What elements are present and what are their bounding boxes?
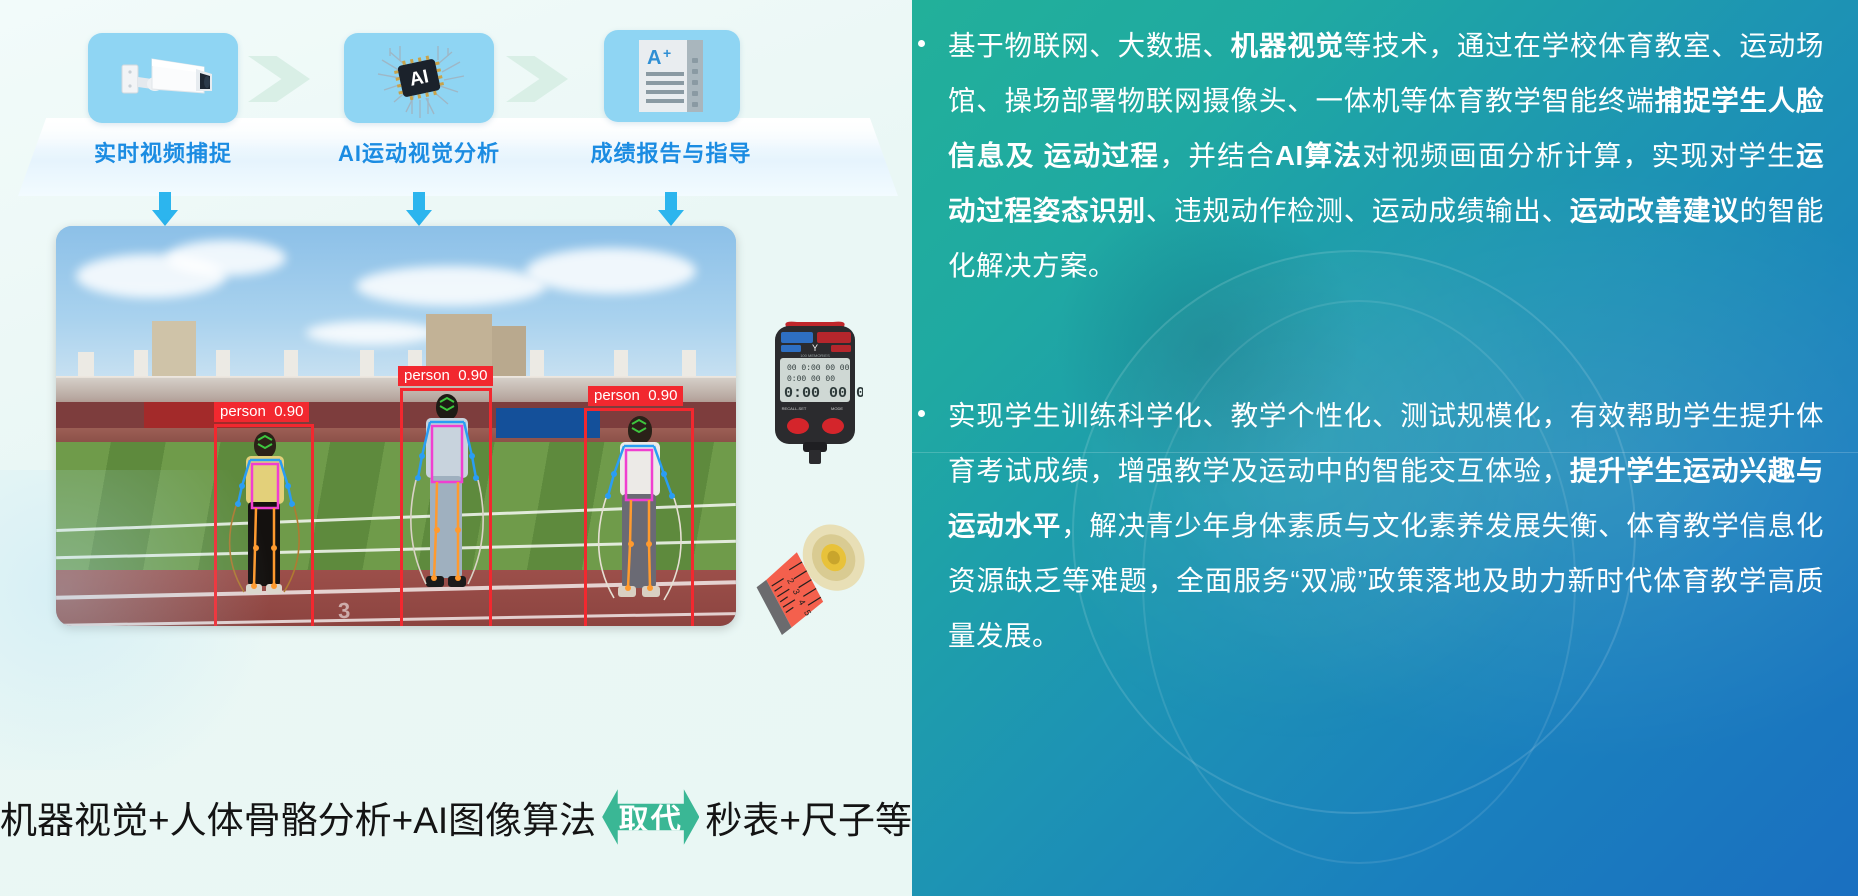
flow-connector-2 [506, 56, 568, 102]
bottom-caption: 机器视觉+人体骨骼分析+AI图像算法 取代 秒表+尺子等 [0, 782, 912, 852]
flow-step-2-tile[interactable]: AI [344, 33, 494, 123]
track-number: 3 [338, 598, 351, 624]
security-camera-icon [108, 43, 218, 113]
cloud [356, 266, 546, 306]
pose-skeleton-2 [400, 368, 492, 626]
person-shoe [266, 584, 282, 594]
flow-connector-1 [248, 56, 310, 102]
detected-person-1: person 0.90 [214, 404, 314, 626]
bullet-marker-2 [918, 410, 925, 417]
bullet-paragraph-2: 实现学生训练科学化、教学个性化、测试规模化，有效帮助学生提升体育考试成绩，增强教… [948, 388, 1824, 663]
replaces-arrow: 取代 [602, 784, 699, 850]
report-card-icon: A + [631, 36, 713, 116]
detected-person-3: person 0.90 [584, 388, 694, 626]
arrow-down-icon-2 [406, 192, 432, 226]
pose-skeleton-3 [584, 388, 694, 626]
cloud [306, 321, 436, 345]
process-flow: AI A + [0, 0, 912, 210]
detected-person-2: person 0.90 [400, 368, 492, 626]
bullet-1-segment-11: 、违规动作检测、运动成绩输出、 [1146, 195, 1570, 226]
person-shoe [246, 584, 262, 594]
ai-pose-detection-preview[interactable]: 3 person 0.90 [56, 226, 736, 626]
flow-step-2-label: AI运动视觉分析 [304, 136, 534, 168]
measuring-tape-image: 2 3 4 5 [748, 505, 888, 645]
flow-step-3-label: 成绩报告与指导 [556, 136, 786, 168]
bullet-1-segment-2: 机器视觉 [1231, 30, 1344, 61]
flow-step-1-tile[interactable] [88, 33, 238, 123]
svg-text:0:00 00 00: 0:00 00 00 [784, 385, 863, 402]
svg-text:MODE: MODE [831, 406, 843, 411]
arrow-down-icon-3 [658, 192, 684, 226]
caption-left-text: 机器视觉+人体骨骼分析+AI图像算法 [0, 790, 596, 844]
pose-skeleton-1 [214, 404, 314, 626]
bullet-paragraph-1: 基于物联网、大数据、机器视觉等技术，通过在学校体育教室、运动场馆、操场部署物联网… [948, 18, 1824, 293]
svg-text:A: A [647, 47, 661, 69]
cloud [166, 240, 286, 276]
svg-text:00 0:00 00 00: 00 0:00 00 00 [787, 364, 850, 373]
bullet-1-segment-1: 基于物联网、大数据、 [948, 30, 1231, 61]
bullet-marker-1 [918, 40, 925, 47]
ai-chip-icon: AI [360, 34, 478, 122]
caption-right-text: 秒表+尺子等 [705, 790, 912, 844]
person-legs [248, 502, 280, 586]
svg-text:0:00 00 00: 0:00 00 00 [787, 375, 835, 384]
flow-step-1-label: 实时视频捕捉 [48, 136, 278, 168]
cloud [526, 248, 696, 294]
arrow-down-icon-1 [152, 192, 178, 226]
left-panel: AI A + [0, 0, 912, 896]
bullet-1-segment-9: 对视频画面分析计算，实现对学生 [1362, 140, 1796, 171]
bullet-2-segment-3: ，解决青少年身体素质与文化素养发展失衡、体育教学信息化资源缺乏等难题，全面服务“… [948, 510, 1824, 651]
svg-text:Y: Y [812, 343, 818, 353]
replaces-arrow-label: 取代 [619, 795, 683, 839]
svg-text:100 MEMORIES: 100 MEMORIES [800, 353, 830, 358]
bullet-1-segment-8: AI算法 [1275, 140, 1362, 171]
flow-step-3-tile[interactable]: A + [604, 30, 740, 122]
slide-root: AI A + [0, 0, 1858, 896]
bullet-1-segment-6: 运动过程 [1044, 140, 1160, 171]
bullet-1-segment-7: ，并结合 [1159, 140, 1275, 171]
bullet-1-segment-5 [1035, 140, 1044, 171]
stopwatch-image: Y 00 0:00 00 00 0:00 00 00 0:00 00 00 10… [767, 318, 863, 468]
svg-text:+: + [663, 45, 671, 61]
bullet-1-segment-12: 运动改善建议 [1570, 195, 1740, 226]
svg-text:RECALL-SET: RECALL-SET [782, 406, 807, 411]
